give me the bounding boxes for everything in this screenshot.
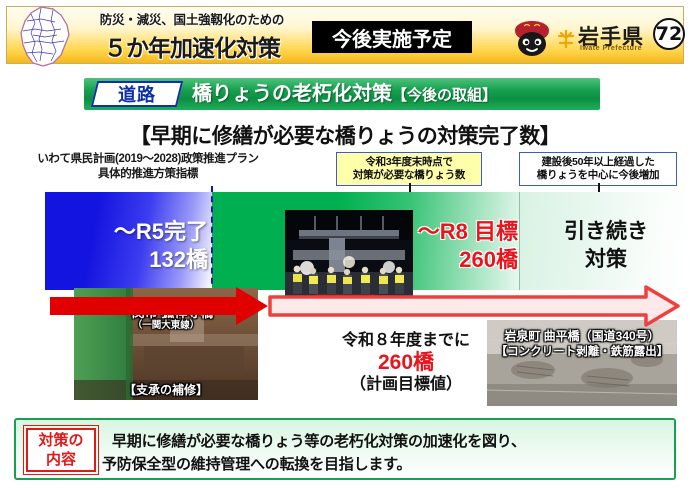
header-campaign-text: 防災・減災、国土強靱化のための ５か年加速化対策 (77, 9, 307, 63)
prefecture-emblem-icon (556, 29, 576, 49)
section-title-sub: 【今後の取組】 (392, 87, 497, 104)
target-note: 令和８年度までに 260橋 （計画目標値） (300, 330, 512, 396)
plan-indicator-line1: いわて県民計画(2019〜2028)政策推進プラン (18, 152, 278, 167)
callout-current-count: 令和3年度末時点で 対策が必要な橋りょう数 (336, 152, 482, 186)
target-note-line3: （計画目標値） (300, 374, 512, 396)
arrow-outline-future (268, 285, 680, 327)
band-continue-line1: 引き続き (528, 218, 684, 246)
iwate-mascot-icon (512, 17, 552, 57)
band-target-label: 〜R8 目標 260橋 (390, 218, 518, 274)
band-continue-label: 引き続き 対策 (528, 218, 684, 274)
callout-future-increase-line1: 建設後50年以上経過した (524, 156, 672, 169)
target-note-line1: 令和８年度までに (300, 330, 512, 352)
status-badge: 今後実施予定 (312, 21, 472, 53)
measures-text: 早期に修繕が必要な橋りょう等の老朽化対策の加速化を図り、 予防保全型の維持管理へ… (112, 430, 668, 476)
band-divider-thin (519, 192, 520, 290)
target-note-line2: 260橋 (300, 352, 512, 374)
prefecture-logo: 岩手県 Iwate Prefecture (512, 15, 652, 61)
band-divider-dashed (211, 186, 213, 294)
band-completed-line1: 〜R5完了 (60, 218, 208, 246)
measures-summary-box: 対策の 内容 早期に修繕が必要な橋りょう等の老朽化対策の加速化を図り、 予防保全… (14, 418, 676, 480)
band-target-line2: 260橋 (390, 246, 518, 274)
band-completed-line2: 132橋 (60, 246, 208, 274)
callout-future-increase: 建設後50年以上経過した 橋りょうを中心に今後増加 (519, 152, 677, 186)
photo-bearing-caption-line3: 【支承の補修】 (76, 381, 256, 398)
category-tag-road: 道路 (91, 81, 183, 107)
arrow-solid-progress (50, 285, 270, 327)
photo-spalling-caption-line1: 岩泉町 曲平橋（国道340号） (487, 327, 677, 344)
section-title-main: 橋りょうの老朽化対策 (192, 83, 392, 105)
measures-tag: 対策の 内容 (26, 428, 96, 472)
band-continue-line2: 対策 (528, 246, 684, 274)
prefecture-name-en: Iwate Prefecture (580, 45, 642, 52)
section-title-bar: 道路 橋りょうの老朽化対策【今後の取組】 (84, 78, 600, 110)
band-completed-label: 〜R5完了 132橋 (60, 218, 208, 274)
callout-future-increase-line2: 橋りょうを中心に今後増加 (524, 169, 672, 182)
measures-tag-line2: 内容 (46, 450, 76, 469)
category-tag-label: 道路 (118, 81, 156, 107)
measures-text-line2: 予防保全型の維持管理への転換を目指します。 (102, 453, 668, 476)
iwate-prefecture-map-icon (11, 5, 81, 69)
plan-indicator-line2: 具体的推進方策指標 (18, 167, 278, 182)
measures-tag-line1: 対策の (38, 431, 83, 450)
page-title: 【早期に修繕が必要な橋りょうの対策完了数】 (0, 120, 690, 150)
header-line2: ５か年加速化対策 (77, 29, 307, 63)
section-title: 橋りょうの老朽化対策【今後の取組】 (192, 81, 497, 109)
callout-current-count-line1: 令和3年度末時点で (341, 156, 477, 169)
header-line1: 防災・減災、国土強靱化のための (77, 9, 307, 28)
slide-header: 防災・減災、国土強靱化のための ５か年加速化対策 今後実施予定 (6, 6, 684, 64)
slide-root: 防災・減災、国土強靱化のための ５か年加速化対策 今後実施予定 (0, 0, 690, 488)
callout-current-count-line2: 対策が必要な橋りょう数 (341, 169, 477, 182)
measures-text-line1: 早期に修繕が必要な橋りょう等の老朽化対策の加速化を図り、 (112, 433, 526, 450)
band-target-line1: 〜R8 目標 (390, 218, 518, 246)
plan-indicator-label: いわて県民計画(2019〜2028)政策推進プラン 具体的推進方策指標 (18, 152, 278, 182)
photo-spalling-caption-line2: 【コンクリート剥離・鉄筋露出】 (487, 343, 677, 359)
page-number: 72 (653, 18, 685, 50)
